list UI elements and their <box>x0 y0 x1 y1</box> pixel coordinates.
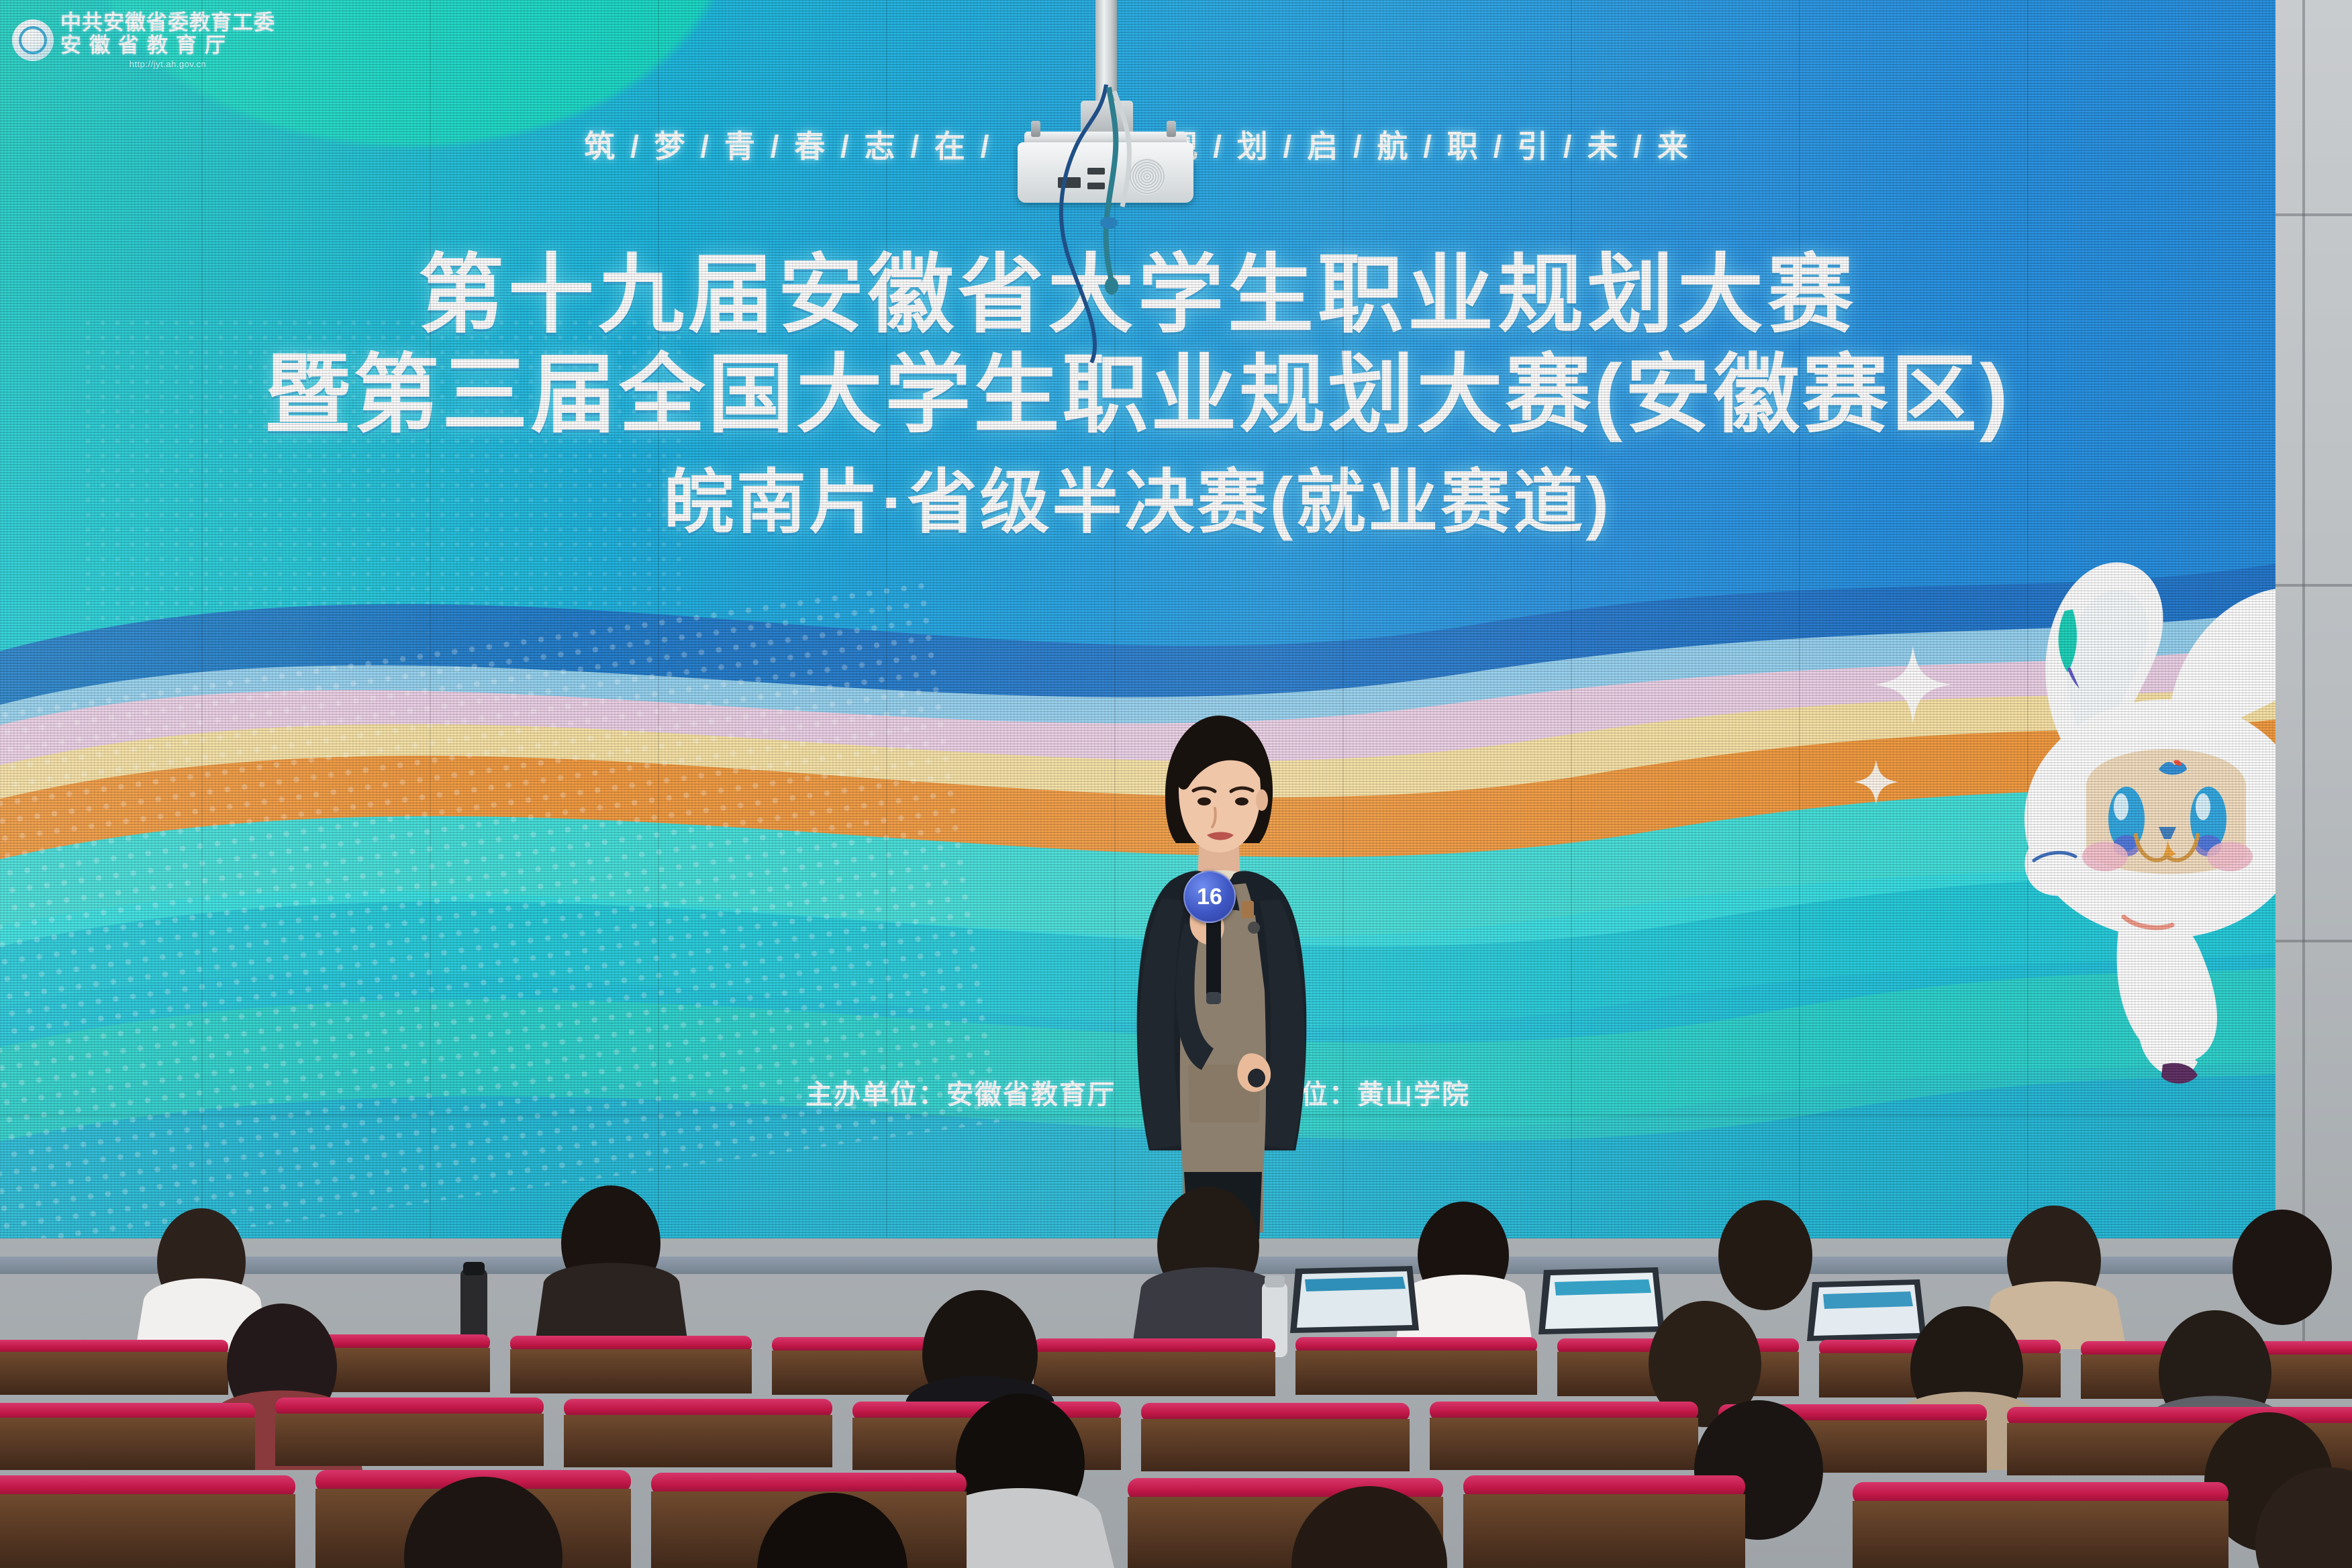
wall-seam-horizontal-1 <box>2273 213 2352 216</box>
projector-port-2 <box>1087 168 1105 175</box>
projector-port-1 <box>1058 177 1081 188</box>
wall-seam-horizontal-3 <box>2273 940 2352 942</box>
wall-seam-horizontal-2 <box>2273 584 2352 587</box>
projector-body <box>1018 142 1193 203</box>
wall-seam-vertical <box>2302 0 2305 1342</box>
projector-port-3 <box>1087 183 1105 189</box>
projector-vent-icon <box>1129 158 1165 195</box>
stage-scene: 中共安徽省委教育工委 安徽省教育厅 http://jyt.ah.gov.cn 筑… <box>0 0 2352 1568</box>
contestant-speaker <box>1101 702 1329 1239</box>
contestant-number-badge: 16 <box>1183 871 1236 923</box>
audience-seating <box>0 1181 2352 1568</box>
ceiling-projector <box>1001 0 1210 201</box>
projector-foot-left <box>1031 121 1040 137</box>
projector-foot-right <box>1167 121 1176 137</box>
